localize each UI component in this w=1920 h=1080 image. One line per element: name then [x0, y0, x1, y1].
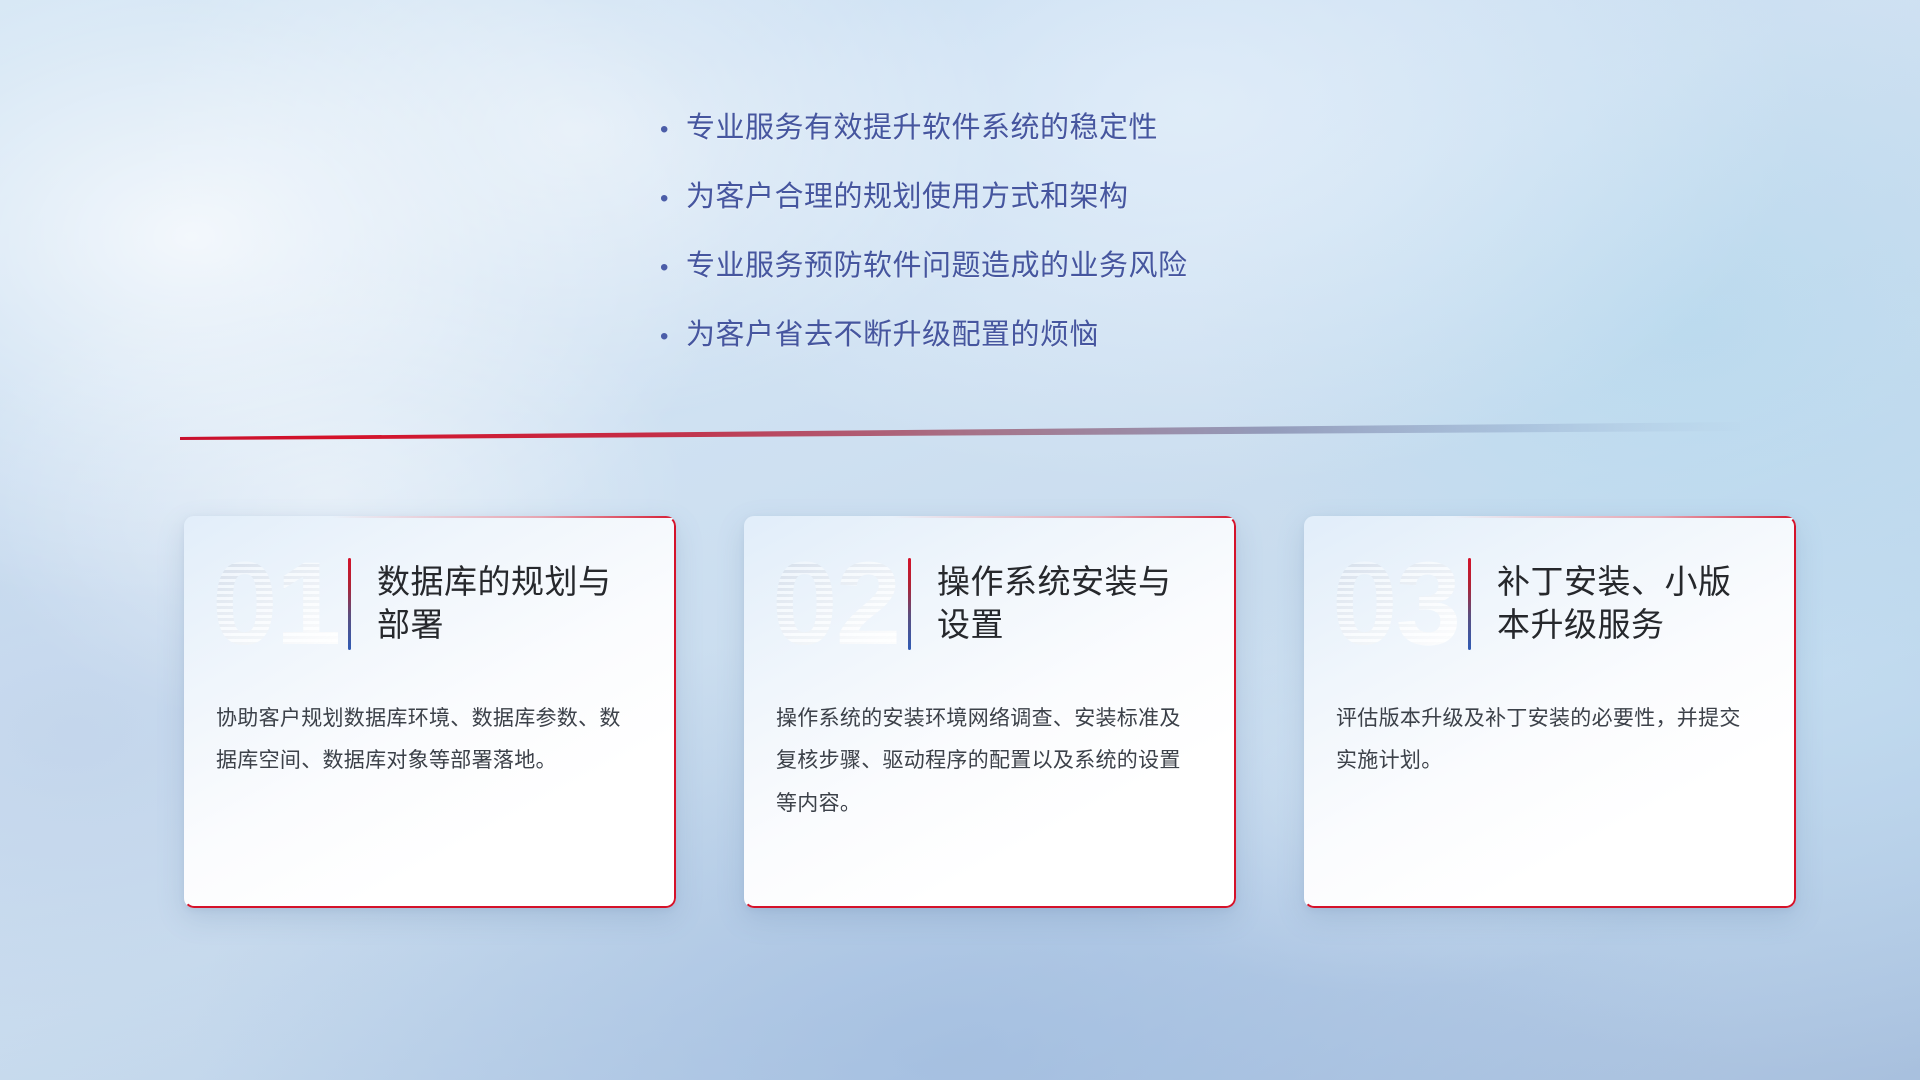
title-accent-rule [1468, 558, 1471, 650]
card-title: 补丁安装、小版本升级服务 [1497, 561, 1747, 647]
card-description: 协助客户规划数据库环境、数据库参数、数据库空间、数据库对象等部署落地。 [184, 692, 676, 783]
striped-number-shape-icon: 02 [770, 540, 902, 668]
bullet-text: 专业服务预防软件问题造成的业务风险 [686, 248, 1188, 285]
service-card[interactable]: 03 补丁安装、小版本升级服务 评估版本升级及补丁安装的必要性，并提交实施计划。 [1304, 516, 1796, 908]
watermark-number-icon: 01 [210, 540, 342, 668]
benefits-bullet-list: • 专业服务有效提升软件系统的稳定性 • 为客户合理的规划使用方式和架构 • 专… [660, 110, 1420, 386]
section-divider [180, 418, 1740, 444]
watermark-number-icon: 02 [770, 540, 902, 668]
bullet-text: 为客户合理的规划使用方式和架构 [686, 179, 1129, 216]
list-item: • 为客户合理的规划使用方式和架构 [660, 179, 1420, 216]
service-card[interactable]: 01 数据库的规划与部署 协助客户规划数据库环境、数据库参数、数据库空间、数据库… [184, 516, 676, 908]
card-title: 数据库的规划与部署 [377, 561, 627, 647]
striped-number-shape-icon: 03 [1330, 540, 1462, 668]
card-header: 01 数据库的规划与部署 [184, 516, 676, 692]
title-accent-rule [908, 558, 911, 650]
service-card[interactable]: 02 操作系统安装与设置 操作系统的安装环境网络调查、安装标准及复核步骤、驱动程… [744, 516, 1236, 908]
divider-shape-icon [180, 418, 1740, 444]
title-accent-rule [348, 558, 351, 650]
bullet-point-icon: • [660, 256, 686, 280]
bullet-point-icon: • [660, 187, 686, 211]
list-item: • 专业服务预防软件问题造成的业务风险 [660, 248, 1420, 285]
list-item: • 专业服务有效提升软件系统的稳定性 [660, 110, 1420, 147]
card-title: 操作系统安装与设置 [937, 561, 1187, 647]
list-item: • 为客户省去不断升级配置的烦恼 [660, 317, 1420, 354]
bullet-text: 为客户省去不断升级配置的烦恼 [686, 317, 1099, 354]
card-description: 评估版本升级及补丁安装的必要性，并提交实施计划。 [1304, 692, 1796, 783]
service-card-list: 01 数据库的规划与部署 协助客户规划数据库环境、数据库参数、数据库空间、数据库… [184, 516, 1796, 908]
card-header: 03 补丁安装、小版本升级服务 [1304, 516, 1796, 692]
bullet-text: 专业服务有效提升软件系统的稳定性 [686, 110, 1158, 147]
card-description: 操作系统的安装环境网络调查、安装标准及复核步骤、驱动程序的配置以及系统的设置等内… [744, 692, 1236, 825]
striped-number-shape-icon: 01 [210, 540, 342, 668]
bullet-point-icon: • [660, 325, 686, 349]
watermark-number-icon: 03 [1330, 540, 1462, 668]
card-header: 02 操作系统安装与设置 [744, 516, 1236, 692]
bullet-point-icon: • [660, 118, 686, 142]
slide-canvas: • 专业服务有效提升软件系统的稳定性 • 为客户合理的规划使用方式和架构 • 专… [0, 0, 1920, 1080]
